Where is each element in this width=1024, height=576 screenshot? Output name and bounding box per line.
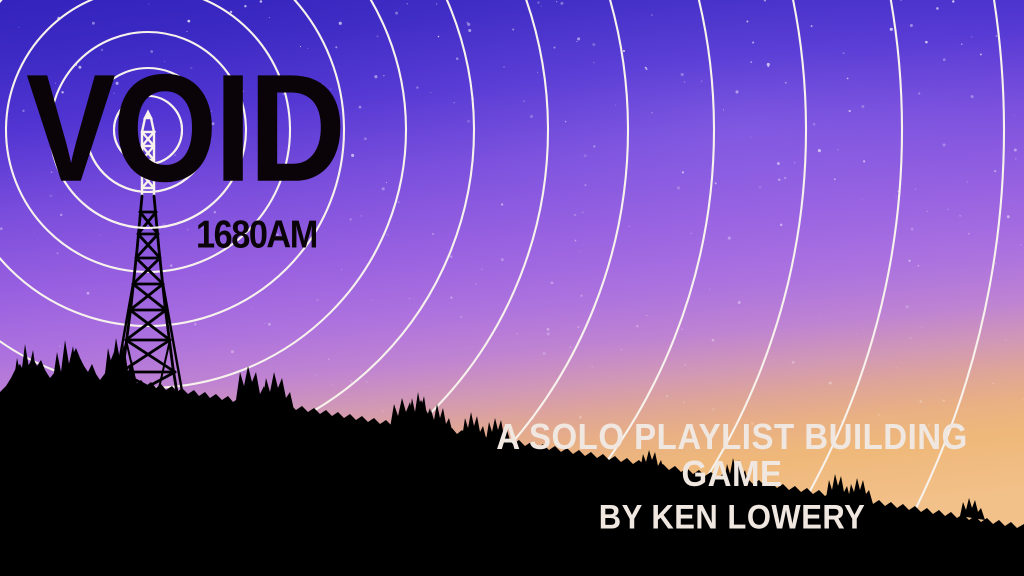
poster-canvas: VOID 1680AM A SOLO PLAYLIST BUILDING GAM… xyxy=(0,0,1024,576)
poster-artwork xyxy=(0,0,1024,576)
